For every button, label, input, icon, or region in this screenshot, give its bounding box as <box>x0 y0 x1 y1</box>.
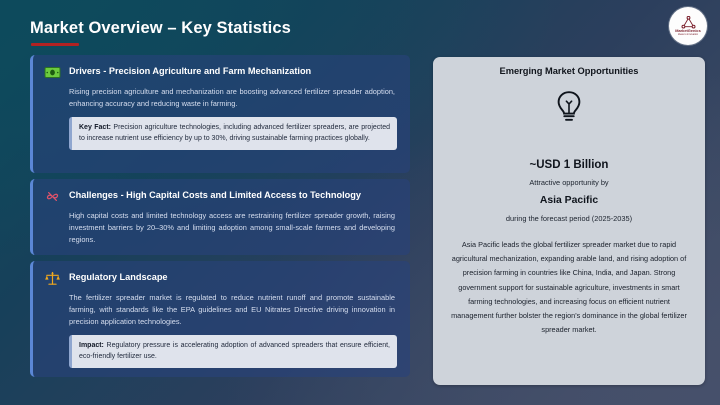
callout-label: Impact: <box>79 342 104 349</box>
brand-logo: MarketGenics Ideas to innovation <box>669 7 707 45</box>
page-title: Market Overview – Key Statistics <box>30 19 291 38</box>
banknote-icon <box>44 64 61 81</box>
opportunity-value: ~USD 1 Billion <box>530 159 609 171</box>
impact-callout: Impact: Regulatory pressure is accelerat… <box>69 335 397 368</box>
panel-title: Emerging Market Opportunities <box>500 66 639 76</box>
card-regulatory-landscape[interactable]: Regulatory Landscape The fertilizer spre… <box>30 261 410 377</box>
forecast-period: during the forecast period (2025-2035) <box>506 214 632 223</box>
callout-label: Key Fact: <box>79 124 111 131</box>
card-header: Drivers - Precision Agriculture and Farm… <box>44 64 397 81</box>
slide-canvas: Market Overview – Key Statistics MarketG… <box>0 0 720 405</box>
card-drivers[interactable]: Drivers - Precision Agriculture and Farm… <box>30 55 410 173</box>
title-underline-accent <box>31 43 79 46</box>
card-title: Challenges - High Capital Costs and Limi… <box>69 188 361 201</box>
network-node-icon <box>681 16 696 29</box>
card-body-text: High capital costs and limited technolog… <box>69 210 397 246</box>
broken-link-icon <box>44 188 61 205</box>
card-title: Drivers - Precision Agriculture and Farm… <box>69 64 311 77</box>
key-fact-callout: Key Fact: Precision agriculture technolo… <box>69 117 397 150</box>
emerging-opportunities-panel: Emerging Market Opportunities ~USD 1 Bil… <box>433 57 705 385</box>
balance-scale-icon <box>44 270 61 287</box>
opportunity-description: Asia Pacific leads the global fertilizer… <box>447 238 691 338</box>
card-body-text: The fertilizer spreader market is regula… <box>69 292 397 328</box>
card-title: Regulatory Landscape <box>69 270 168 283</box>
opportunity-subtitle: Attractive opportunity by <box>529 178 608 187</box>
card-header: Challenges - High Capital Costs and Limi… <box>44 188 397 205</box>
logo-tagline: Ideas to innovation <box>678 34 698 36</box>
key-statistics-column: Drivers - Precision Agriculture and Farm… <box>30 55 410 385</box>
callout-text: Regulatory pressure is accelerating adop… <box>79 342 390 360</box>
card-challenges[interactable]: Challenges - High Capital Costs and Limi… <box>30 179 410 255</box>
card-body-text: Rising precision agriculture and mechani… <box>69 86 397 110</box>
opportunity-region: Asia Pacific <box>540 195 598 206</box>
card-header: Regulatory Landscape <box>44 270 397 287</box>
lightbulb-icon <box>554 90 584 129</box>
callout-text: Precision agriculture technologies, incl… <box>79 124 390 142</box>
